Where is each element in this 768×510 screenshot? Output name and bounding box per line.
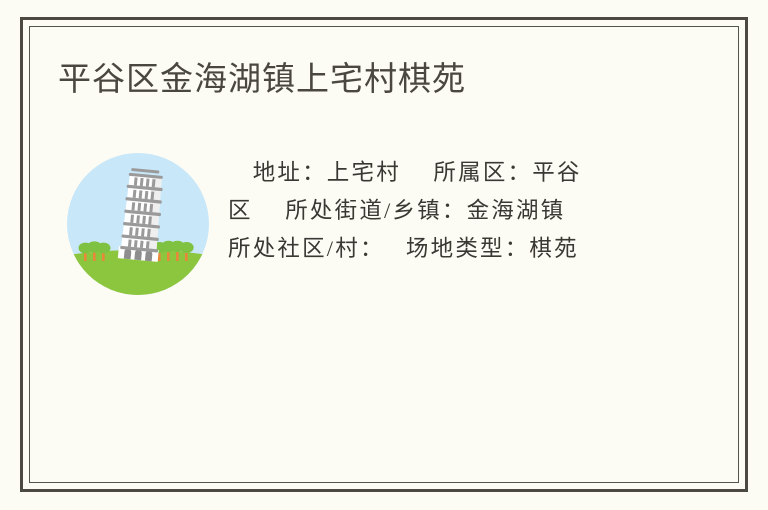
illustration-svg	[66, 152, 210, 296]
content-row: 地址：上宅村 所属区：平谷区 所处街道/乡镇：金海湖镇 所处社区/村： 场地类型…	[58, 148, 708, 358]
venue-details-text: 地址：上宅村 所属区：平谷区 所处街道/乡镇：金海湖镇 所处社区/村： 场地类型…	[228, 154, 600, 268]
leaning-tower-of-pisa-icon	[66, 152, 210, 296]
document-page: 平谷区金海湖镇上宅村棋苑	[0, 0, 768, 510]
page-title: 平谷区金海湖镇上宅村棋苑	[58, 56, 698, 102]
